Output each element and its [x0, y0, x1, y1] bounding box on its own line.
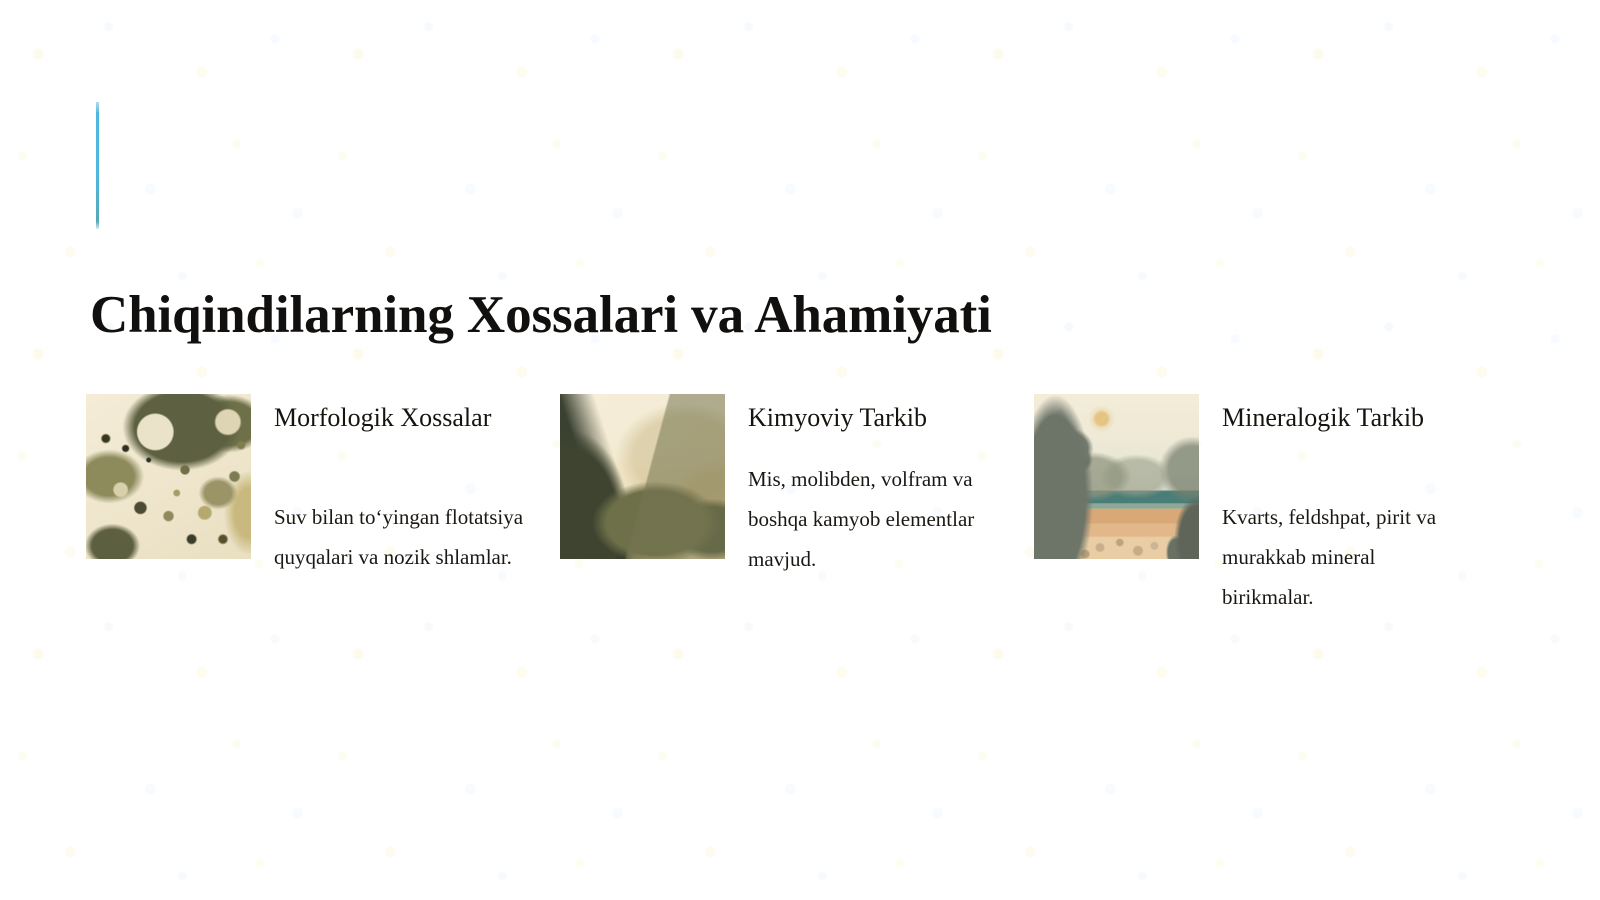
- feature-heading-mineralogik: Mineralogik Tarkib: [1222, 402, 1508, 434]
- speckled-olive-blobs-illustration: [86, 394, 251, 559]
- feature-heading-morfologik: Morfologik Xossalar: [274, 402, 560, 434]
- feature-text-mineralogik: Mineralogik Tarkib Kvarts, feldshpat, pi…: [1199, 394, 1508, 617]
- feature-text-morfologik: Morfologik Xossalar Suv bilan to‘yingan …: [251, 394, 560, 577]
- rocky-coast-sand-illustration: [1034, 394, 1199, 559]
- feature-body-morfologik: Suv bilan to‘yingan flotatsiya quyqalari…: [274, 497, 524, 577]
- feature-text-kimyoviy: Kimyoviy Tarkib Mis, molibden, volfram v…: [725, 394, 1034, 579]
- feature-column-kimyoviy-tarkib: Kimyoviy Tarkib Mis, molibden, volfram v…: [560, 394, 1034, 579]
- feature-body-kimyoviy: Mis, molibden, volfram va boshqa kamyob …: [748, 459, 998, 579]
- thumbnail-image-mineralogik: [1034, 394, 1199, 559]
- presentation-slide: Chiqindilarning Xossalari va Ahamiyati M…: [0, 0, 1600, 900]
- feature-body-mineralogik: Kvarts, feldshpat, pirit va murakkab min…: [1222, 497, 1472, 617]
- feature-heading-kimyoviy: Kimyoviy Tarkib: [748, 402, 1034, 434]
- feature-column-morfologik-xossalar: Morfologik Xossalar Suv bilan to‘yingan …: [86, 394, 560, 577]
- page-title: Chiqindilarning Xossalari va Ahamiyati: [90, 283, 1390, 347]
- olive-mountain-ridge-illustration: [560, 394, 725, 559]
- feature-columns: Morfologik Xossalar Suv bilan to‘yingan …: [86, 394, 1516, 617]
- feature-column-mineralogik-tarkib: Mineralogik Tarkib Kvarts, feldshpat, pi…: [1034, 394, 1508, 617]
- accent-bar: [96, 102, 99, 229]
- thumbnail-image-morfologik: [86, 394, 251, 559]
- thumbnail-image-kimyoviy: [560, 394, 725, 559]
